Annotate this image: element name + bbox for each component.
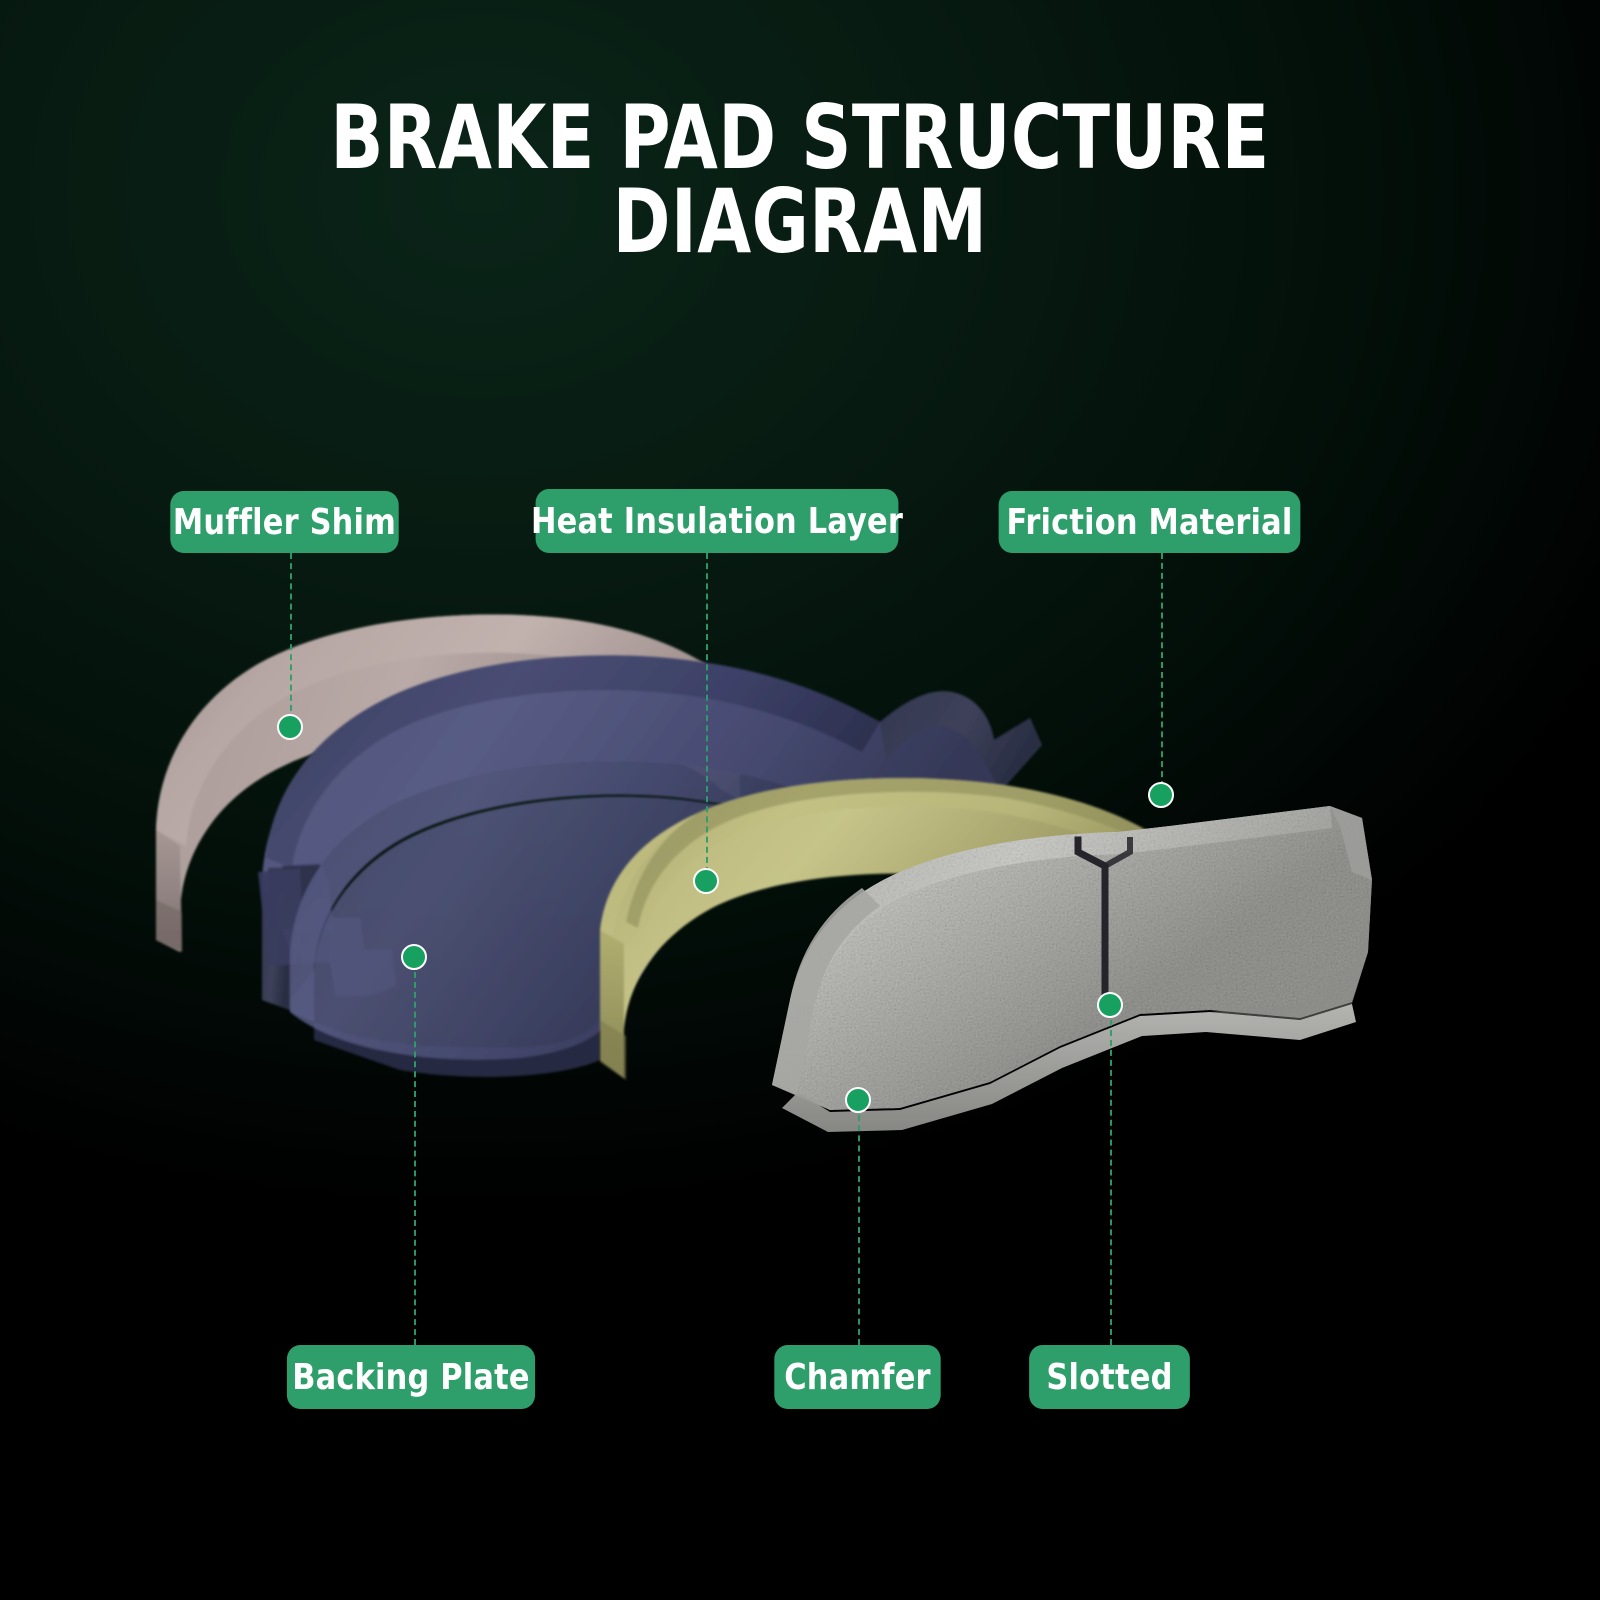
leader-line-friction-material [1161, 553, 1163, 787]
diagram-canvas: BRAKE PAD STRUCTURE DIAGRAM [0, 0, 1600, 1600]
anchor-dot-slotted [1097, 992, 1123, 1018]
anchor-dot-friction-material [1148, 782, 1174, 808]
part-backing-plate [258, 655, 1042, 1076]
leader-line-backing-plate [414, 972, 416, 1345]
callout-chamfer[interactable]: Chamfer [774, 1345, 940, 1409]
page-title: BRAKE PAD STRUCTURE DIAGRAM [96, 96, 1504, 265]
leader-line-slotted [1110, 1020, 1112, 1345]
part-friction-material [772, 806, 1372, 1132]
callout-slotted[interactable]: Slotted [1029, 1345, 1190, 1409]
leader-line-heat-insulation-layer [706, 553, 708, 873]
leader-line-chamfer [858, 1115, 860, 1345]
anchor-dot-backing-plate [401, 944, 427, 970]
part-muffler-shim [156, 614, 740, 952]
callout-friction-material[interactable]: Friction Material [999, 491, 1301, 553]
anchor-dot-heat-insulation-layer [693, 868, 719, 894]
callout-heat-insulation-layer[interactable]: Heat Insulation Layer [536, 489, 899, 553]
anchor-dot-muffler-shim [277, 714, 303, 740]
part-heat-insulation-layer [600, 778, 1156, 1080]
callout-backing-plate[interactable]: Backing Plate [287, 1345, 535, 1409]
leader-line-muffler-shim [290, 553, 292, 721]
anchor-dot-chamfer [845, 1087, 871, 1113]
callout-muffler-shim[interactable]: Muffler Shim [170, 491, 398, 553]
